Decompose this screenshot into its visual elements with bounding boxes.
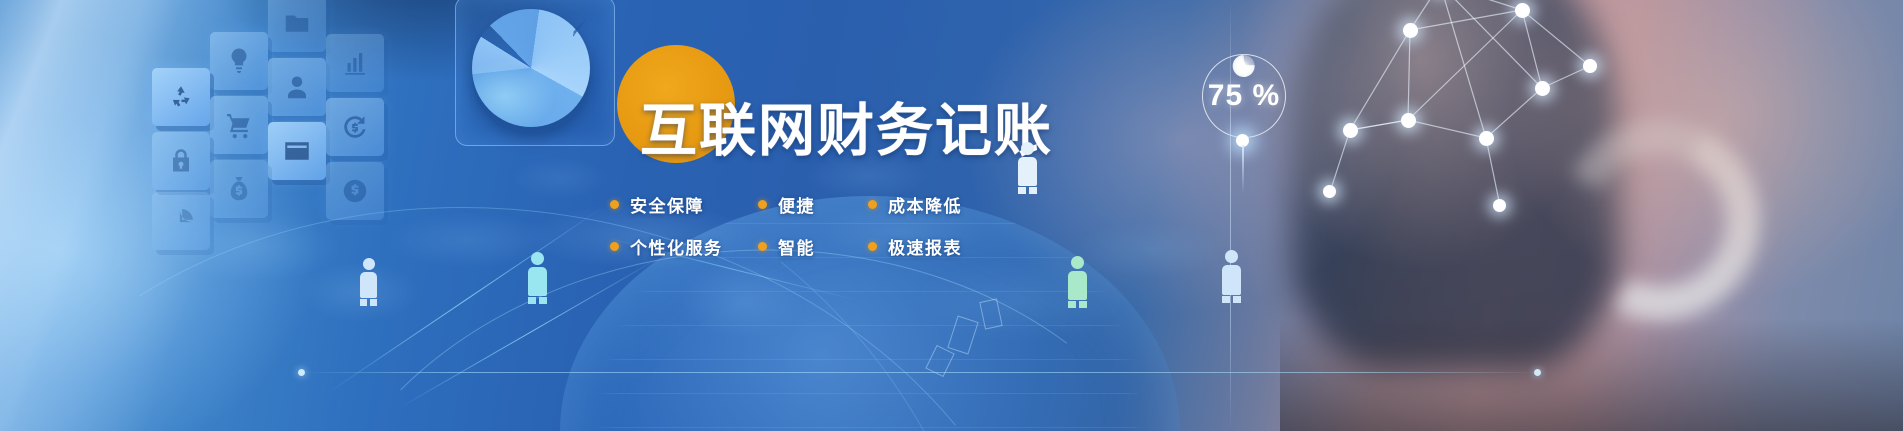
network-node: [1403, 23, 1418, 38]
feature-label: 智能: [778, 234, 815, 259]
feature-label: 个性化服务: [630, 234, 723, 259]
feature-list: 安全保障 便捷 成本降低 个性化服务 智能 极速报表: [610, 183, 1030, 267]
bullet-dot-icon: [610, 242, 619, 251]
coin-icon: [326, 162, 384, 220]
bar-chart-icon: [326, 34, 384, 92]
hero-banner: 互联网财务记账 安全保障 便捷 成本降低 个性化服务 智能: [0, 0, 1903, 431]
lightbulb-icon: [210, 32, 268, 90]
network-graph: [1290, 0, 1620, 230]
baseline-dot: [298, 369, 305, 376]
person-pictogram: [1068, 256, 1087, 308]
person-pictogram: [1018, 142, 1037, 194]
feature-label: 便捷: [778, 192, 815, 217]
feature-item-fast-reports[interactable]: 极速报表: [868, 234, 962, 259]
lock-icon: [152, 132, 210, 190]
vertical-divider: [1230, 0, 1231, 431]
pie-chart-gloss: [472, 9, 590, 127]
gauge-stem-line: [1242, 145, 1244, 193]
credit-card-icon: [268, 122, 326, 180]
progress-gauge: 75 %: [1198, 50, 1290, 142]
feature-item-security[interactable]: 安全保障: [610, 192, 758, 217]
person-icon: [268, 58, 326, 116]
feature-row-1: 安全保障 便捷 成本降低: [610, 183, 1030, 225]
feature-item-cost-reduction[interactable]: 成本降低: [868, 192, 962, 217]
money-bag-icon: [210, 160, 268, 218]
person-pictogram: [360, 258, 377, 306]
network-node: [1583, 59, 1597, 73]
icon-cube-grid: [150, 0, 420, 242]
network-node: [1401, 113, 1416, 128]
person-pictogram: [1222, 250, 1241, 303]
bullet-dot-icon: [868, 200, 877, 209]
network-edges: [1290, 0, 1620, 230]
bullet-dot-icon: [868, 242, 877, 251]
network-node: [1479, 131, 1494, 146]
pie-chart-icon: [152, 192, 210, 250]
shopping-cart-icon: [210, 96, 268, 154]
bullet-dot-icon: [758, 200, 767, 209]
refresh-money-icon: [326, 98, 384, 156]
feature-label: 极速报表: [888, 234, 962, 259]
network-node: [1493, 199, 1506, 212]
network-node: [1535, 81, 1550, 96]
baseline-dot: [1534, 369, 1541, 376]
feature-row-2: 个性化服务 智能 极速报表: [610, 225, 1030, 267]
pie-chart-panel: [455, 0, 615, 146]
network-node: [1343, 123, 1358, 138]
baseline-rule: [300, 372, 1540, 373]
recycle-icon: [152, 68, 210, 126]
feature-item-intelligent[interactable]: 智能: [758, 234, 868, 259]
feature-label: 成本降低: [888, 192, 962, 217]
feature-label: 安全保障: [630, 192, 704, 217]
network-node: [1323, 185, 1336, 198]
folder-icon: [268, 0, 326, 52]
person-pictogram: [528, 252, 547, 304]
bullet-dot-icon: [610, 200, 619, 209]
bullet-dot-icon: [758, 242, 767, 251]
feature-item-convenient[interactable]: 便捷: [758, 192, 868, 217]
network-node: [1515, 3, 1530, 18]
gauge-value: 75 %: [1198, 50, 1290, 142]
feature-item-personalized-service[interactable]: 个性化服务: [610, 234, 758, 259]
page-title: 互联网财务记账: [640, 103, 1053, 160]
